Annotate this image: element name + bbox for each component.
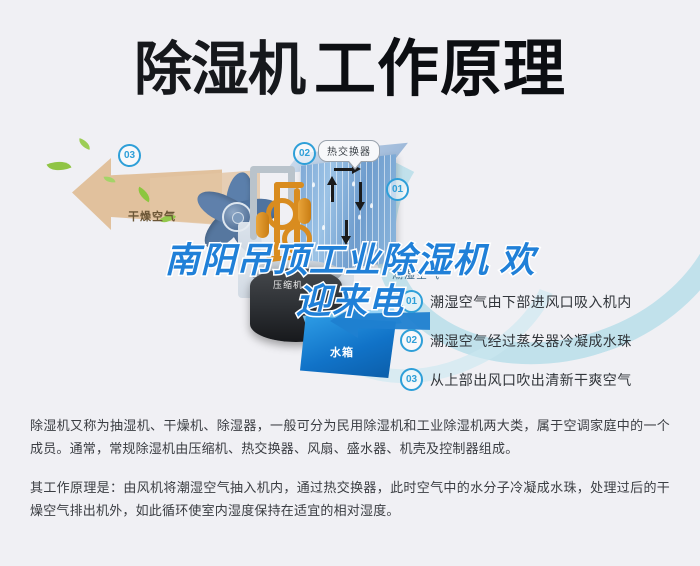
compressor-label: 压缩机 <box>273 278 303 291</box>
callout-badge-02: 02 <box>293 142 316 165</box>
legend-item-01: 01 潮湿空气由下部进风口吸入机内 <box>400 290 696 313</box>
heat-exchanger-icon <box>300 154 396 274</box>
flow-arrow-up-icon <box>327 176 337 185</box>
leaf-icon <box>77 138 92 150</box>
legend-item-02: 02 潮湿空气经过蒸发器冷凝成水珠 <box>400 329 696 352</box>
body-copy: 除湿机又称为抽湿机、干燥机、除湿器，一般可分为民用除湿机和工业除湿机两大类，属于… <box>0 414 700 530</box>
page-root: 除湿机 工作原理 03 干燥空气 <box>0 0 700 566</box>
water-tank-label: 水箱 <box>330 344 354 360</box>
leaf-icon <box>47 156 72 175</box>
legend-label-01: 潮湿空气由下部进风口吸入机内 <box>430 292 632 312</box>
heat-exchanger-tag: 热交换器 <box>318 140 380 162</box>
legend-badge-02: 02 <box>400 329 423 352</box>
dehumidifier-diagram: 03 干燥空气 <box>0 118 700 410</box>
dry-air-label: 干燥空气 <box>128 208 176 224</box>
page-title-part-2: 工作原理 <box>314 39 566 101</box>
page-title: 除湿机 工作原理 <box>0 30 700 110</box>
flow-arrow-down-icon <box>341 236 351 245</box>
legend-label-02: 潮湿空气经过蒸发器冷凝成水珠 <box>430 331 632 351</box>
callout-badge-01: 01 <box>386 178 409 201</box>
body-paragraph-2: 其工作原理是：由风机将潮湿空气抽入机内，通过热交换器，此时空气中的水分子冷凝成水… <box>30 476 670 522</box>
diagram-legend: 01 潮湿空气由下部进风口吸入机内 02 潮湿空气经过蒸发器冷凝成水珠 03 从… <box>400 290 696 407</box>
legend-badge-03: 03 <box>400 368 423 391</box>
humid-air-label: 潮湿空气 <box>392 266 440 282</box>
body-paragraph-1: 除湿机又称为抽湿机、干燥机、除湿器，一般可分为民用除湿机和工业除湿机两大类，属于… <box>30 414 670 460</box>
page-title-part-1: 除湿机 <box>134 40 305 100</box>
legend-badge-01: 01 <box>400 290 423 313</box>
callout-badge-03: 03 <box>118 144 141 167</box>
legend-label-03: 从上部出风口吹出清新干爽空气 <box>430 370 632 390</box>
flow-arrow-down-icon <box>355 202 365 211</box>
legend-item-03: 03 从上部出风口吹出清新干爽空气 <box>400 368 696 391</box>
